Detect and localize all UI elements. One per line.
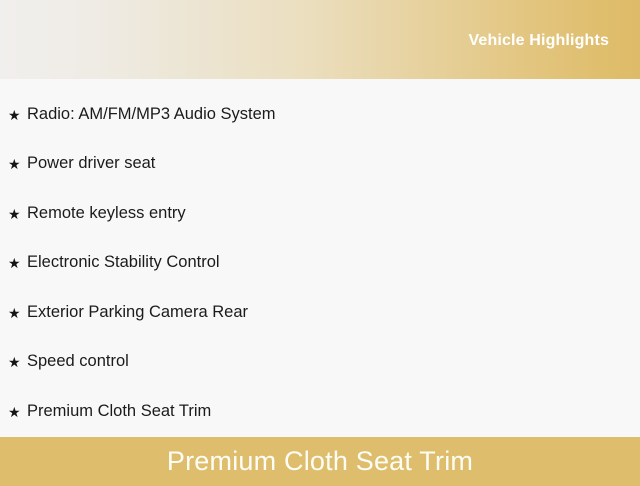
list-item: ★ Remote keyless entry [0, 189, 640, 239]
star-bullet-icon: ★ [8, 256, 27, 270]
list-item-label: Speed control [27, 352, 129, 372]
star-bullet-icon: ★ [8, 306, 27, 320]
list-item: ★ Electronic Stability Control [0, 239, 640, 289]
list-item-label: Electronic Stability Control [27, 253, 220, 273]
list-item: ★ Premium Cloth Seat Trim [0, 387, 640, 437]
star-bullet-icon: ★ [8, 355, 27, 369]
list-item-label: Exterior Parking Camera Rear [27, 303, 248, 323]
footer-caption: Premium Cloth Seat Trim [167, 448, 473, 475]
header-bar: Vehicle Highlights [0, 0, 640, 79]
list-item-label: Power driver seat [27, 154, 155, 174]
list-item: ★ Exterior Parking Camera Rear [0, 288, 640, 338]
vehicle-highlights-list: ★ Radio: AM/FM/MP3 Audio System ★ Power … [0, 79, 640, 437]
list-item: ★ Speed control [0, 338, 640, 388]
page-title: Vehicle Highlights [468, 33, 609, 49]
vehicle-highlights-slide: Vehicle Highlights ★ Radio: AM/FM/MP3 Au… [0, 0, 640, 480]
star-bullet-icon: ★ [8, 157, 27, 171]
star-bullet-icon: ★ [8, 207, 27, 221]
list-item-label: Radio: AM/FM/MP3 Audio System [27, 105, 276, 125]
star-bullet-icon: ★ [8, 405, 27, 419]
list-item-label: Remote keyless entry [27, 204, 186, 224]
list-item-label: Premium Cloth Seat Trim [27, 402, 211, 422]
list-item: ★ Power driver seat [0, 140, 640, 190]
star-bullet-icon: ★ [8, 108, 27, 122]
footer-bar: Premium Cloth Seat Trim [0, 437, 640, 486]
list-item: ★ Radio: AM/FM/MP3 Audio System [0, 90, 640, 140]
